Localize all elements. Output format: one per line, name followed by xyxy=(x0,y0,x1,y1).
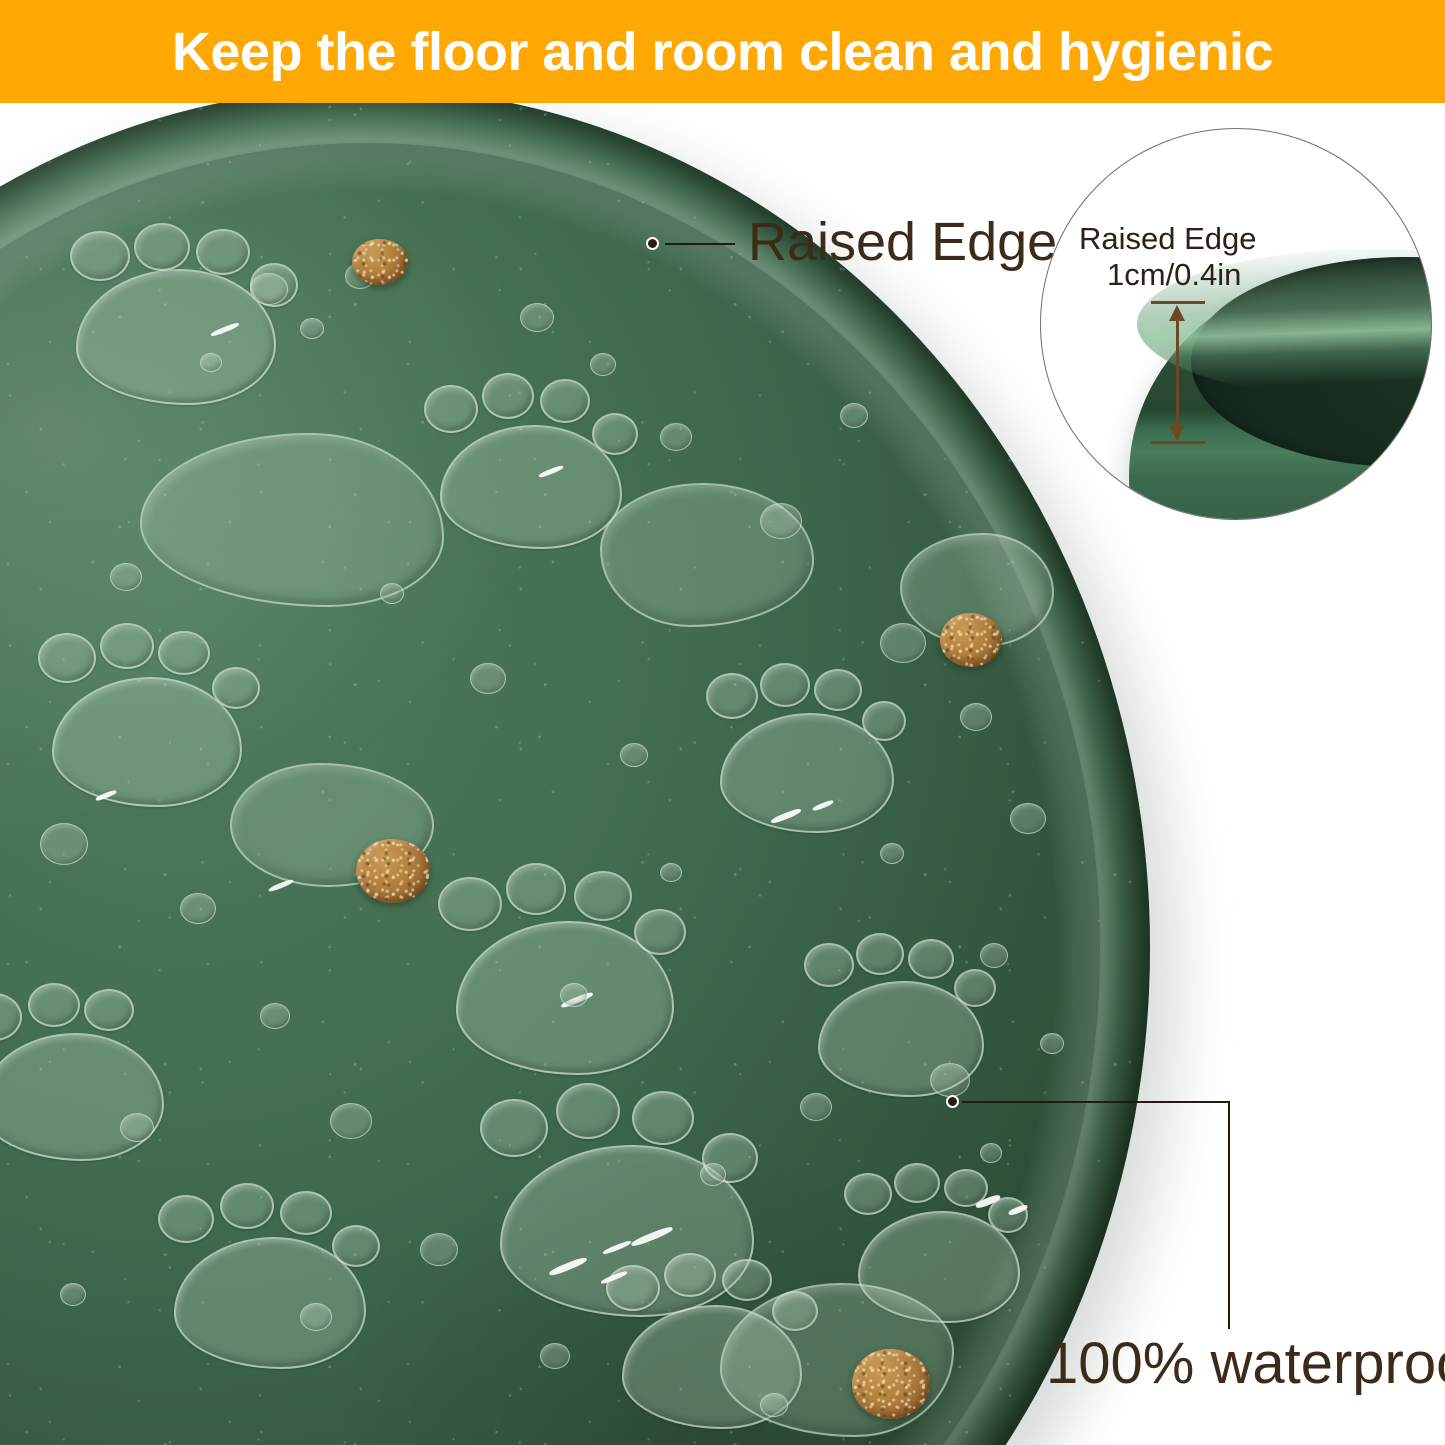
headline-banner: Keep the floor and room clean and hygien… xyxy=(0,0,1445,103)
callout-raised-edge-label: Raised Edge xyxy=(748,215,1057,269)
raised-edge-detail-inset: Raised Edge 1cm/0.4in xyxy=(1040,128,1432,520)
kibble-piece xyxy=(852,1349,930,1419)
measurement-shaft xyxy=(1176,309,1179,439)
measurement-cap-bottom xyxy=(1151,441,1205,444)
inset-label-line-1: Raised Edge xyxy=(1079,223,1257,256)
callout-waterproof-label: 100% waterproof xyxy=(1046,1335,1445,1393)
waterproof-leader-vertical xyxy=(1228,1101,1230,1329)
measurement-cap-top xyxy=(1151,301,1205,304)
raised-edge-marker-dot xyxy=(646,237,659,250)
water-puddle xyxy=(140,433,444,607)
kibble-piece xyxy=(352,239,408,285)
waterproof-leader-horizontal xyxy=(962,1101,1230,1103)
inset-label-line-2: 1cm/0.4in xyxy=(1107,259,1241,292)
measurement-arrowhead-down xyxy=(1169,425,1185,441)
product-feature-image: Keep the floor and room clean and hygien… xyxy=(0,0,1445,1445)
raised-edge-leader-line xyxy=(665,243,735,245)
headline-text: Keep the floor and room clean and hygien… xyxy=(172,25,1273,79)
kibble-piece xyxy=(940,613,1002,667)
waterproof-marker-dot xyxy=(946,1095,959,1108)
kibble-piece xyxy=(356,839,430,903)
